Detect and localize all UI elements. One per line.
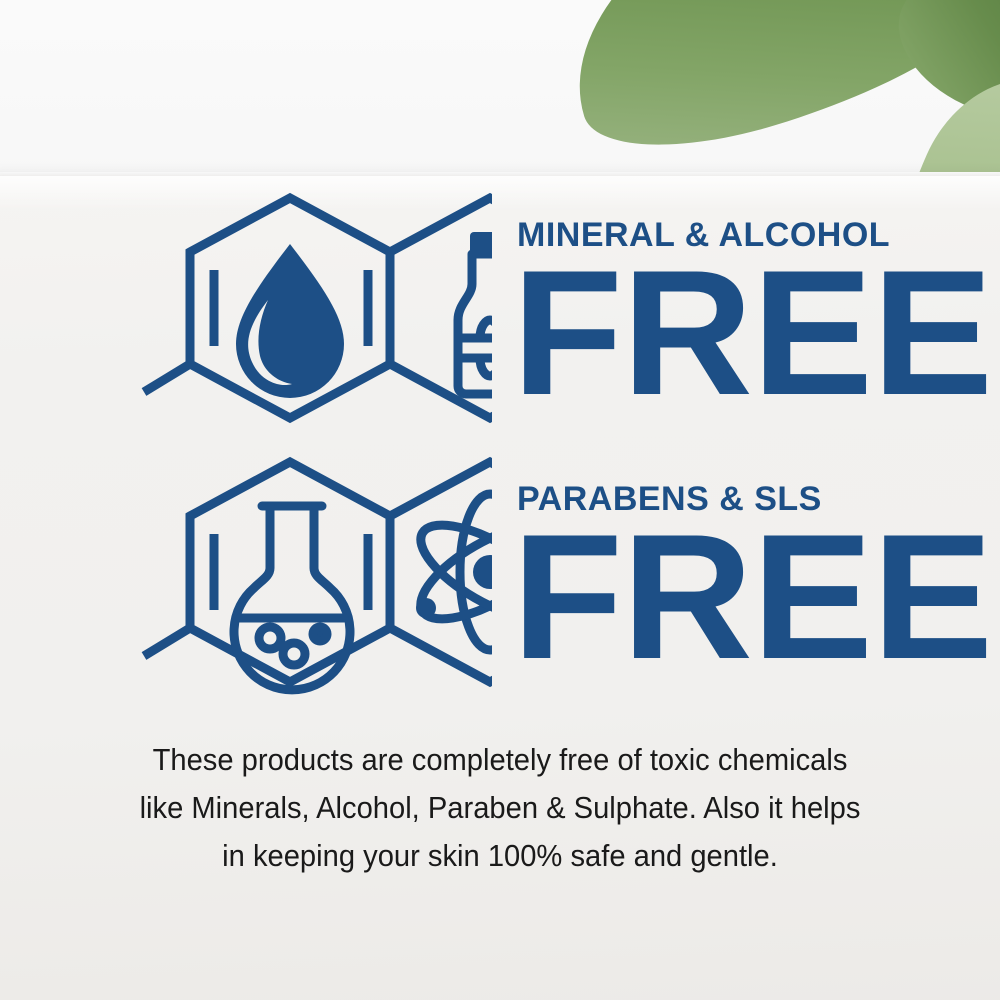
product-claim-banner: MINERAL & ALCOHOL FREE [0,0,1000,1000]
paragraph-line-3: in keeping your skin 100% safe and gentl… [77,832,923,880]
description-paragraph: These products are completely free of to… [77,736,923,880]
claim-headline-1: FREE [512,244,992,422]
claim-text-2: PARABENS & SLS FREE [512,456,982,696]
bottle-glyph [458,232,492,394]
claim-row-mineral-alcohol: MINERAL & ALCOHOL FREE [0,192,1000,432]
hexagon-icon-pair-2 [72,456,492,696]
claim-text-1: MINERAL & ALCOHOL FREE [512,192,982,432]
water-drop-glyph [236,244,344,398]
claim-row-parabens-sls: PARABENS & SLS FREE [0,456,1000,696]
atom-glyph [407,488,492,650]
paragraph-line-1: These products are completely free of to… [77,736,923,784]
hexagon-icon-pair-1 [72,192,492,432]
claim-headline-2: FREE [512,508,992,686]
paragraph-line-2: like Minerals, Alcohol, Paraben & Sulpha… [77,784,923,832]
card-content: MINERAL & ALCOHOL FREE [0,176,1000,1000]
